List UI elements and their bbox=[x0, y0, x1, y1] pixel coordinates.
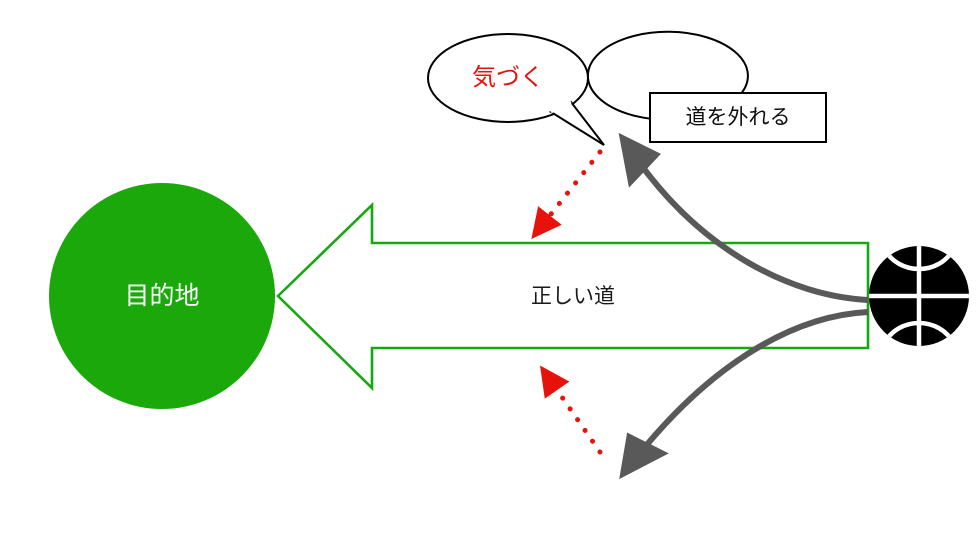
diagram-canvas: 目的地 正しい道 気づく 道を外れる bbox=[0, 0, 980, 533]
correct-path-label: 正しい道 bbox=[531, 284, 615, 308]
basketball-icon[interactable] bbox=[867, 244, 971, 348]
correct-path-arrow[interactable]: 正しい道 bbox=[278, 205, 868, 388]
destination-circle[interactable]: 目的地 bbox=[49, 183, 275, 409]
destination-label: 目的地 bbox=[124, 281, 199, 310]
lower-awareness-arrow bbox=[548, 377, 600, 452]
upper-awareness-arrow bbox=[540, 152, 600, 228]
stray-box-label: 道を外れる bbox=[686, 105, 791, 129]
speech-bubble-label: 気づく bbox=[472, 63, 544, 91]
stray-from-path-box[interactable]: 道を外れる bbox=[650, 93, 826, 142]
basketball-seams bbox=[867, 244, 971, 348]
